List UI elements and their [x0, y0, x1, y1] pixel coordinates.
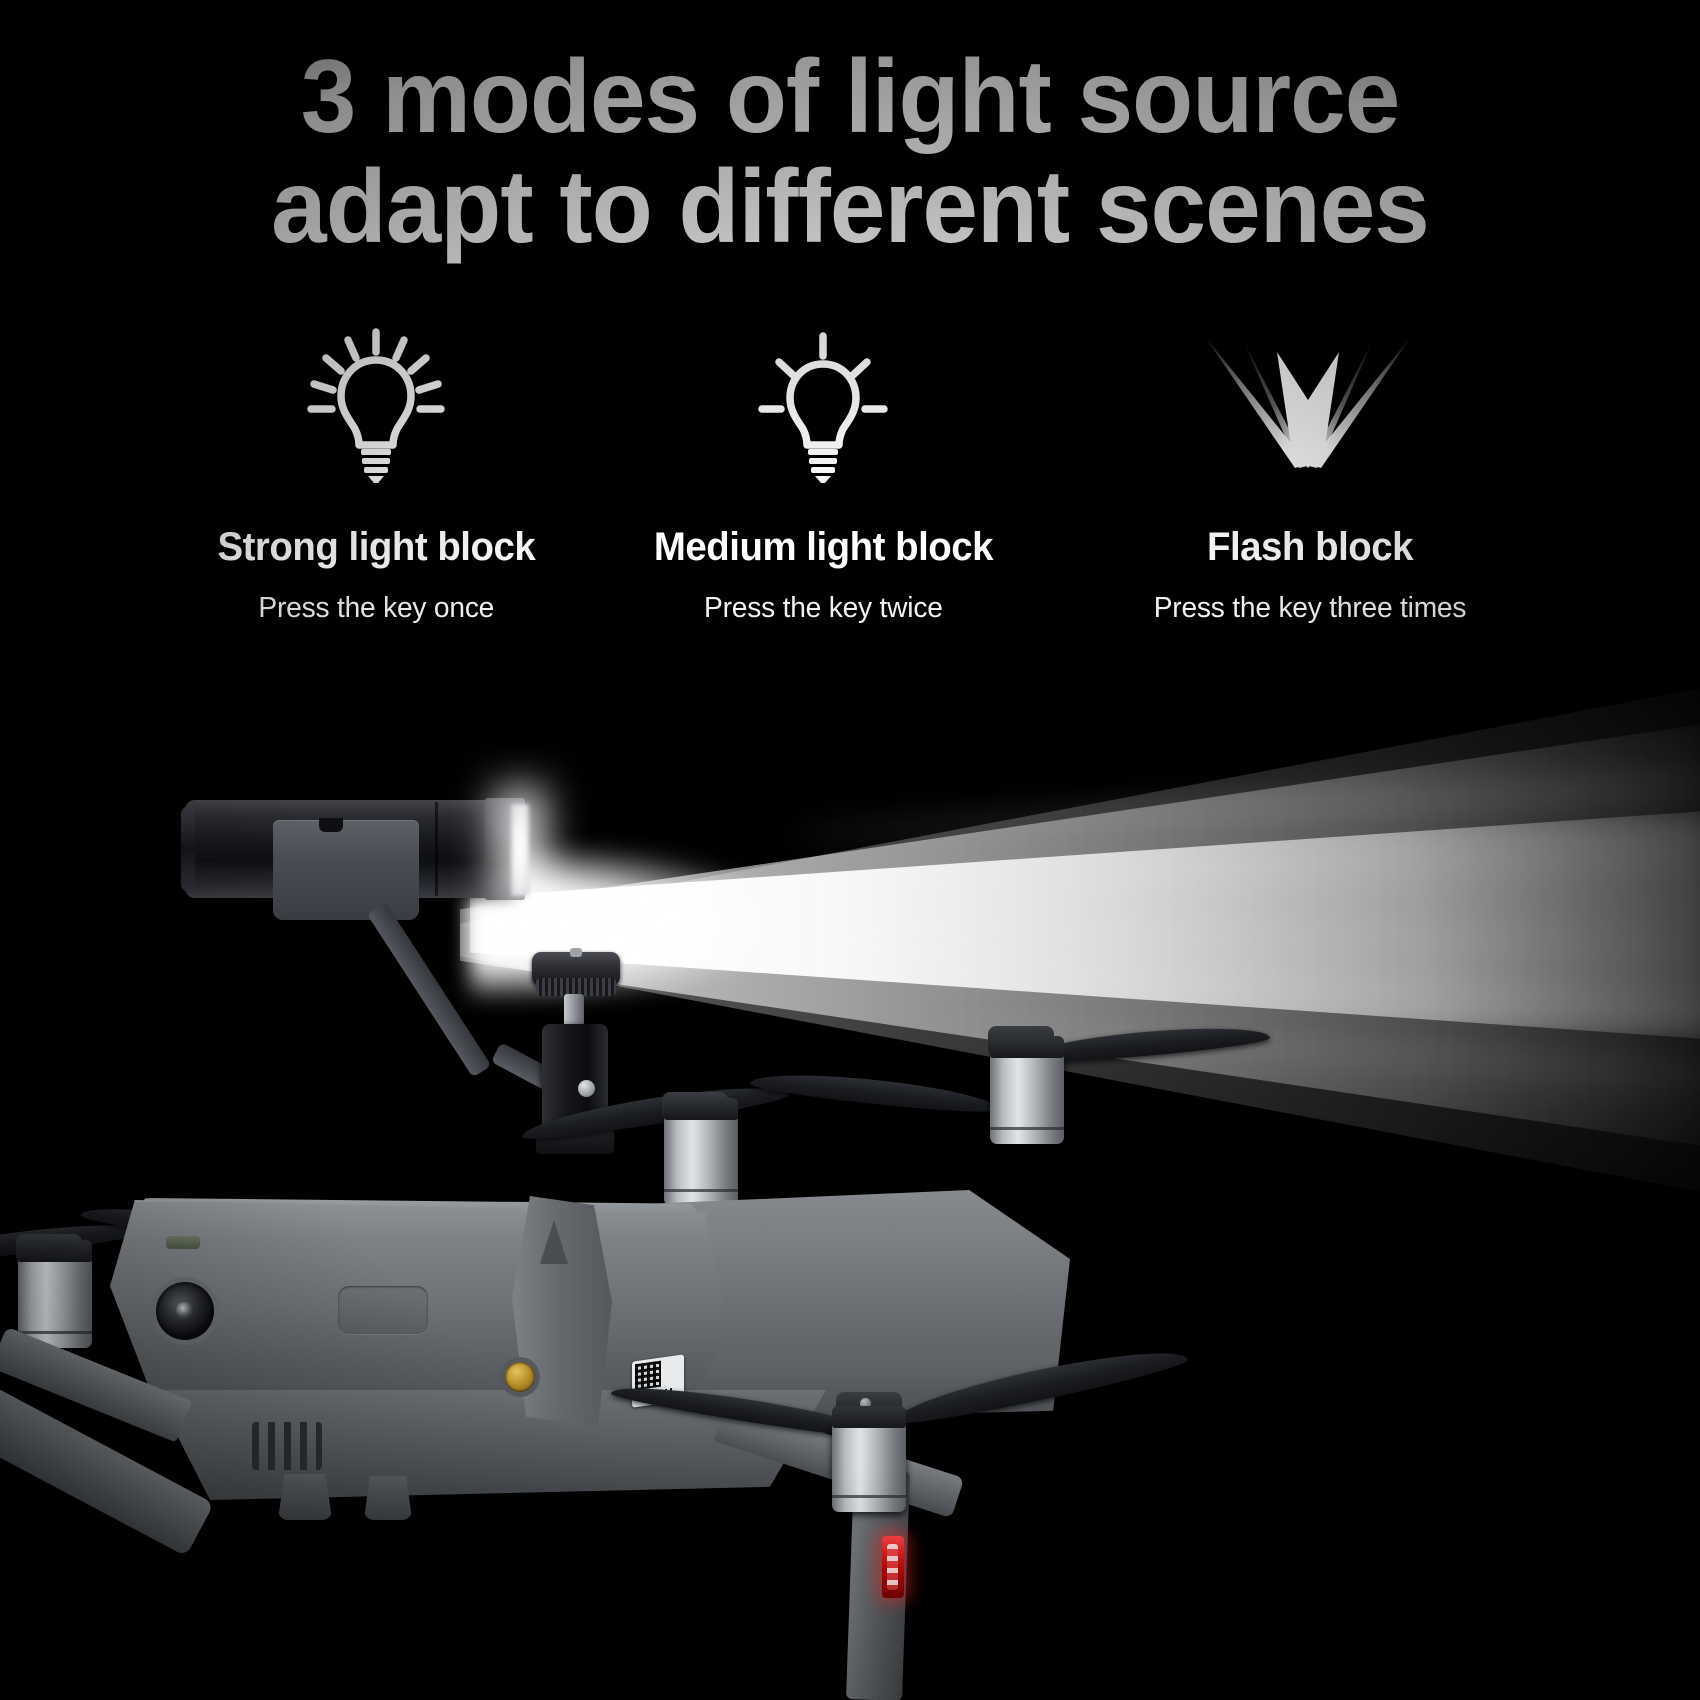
torch-mounting-clip: [273, 820, 419, 920]
light-mode-flash: Flash block Press the key three times: [1050, 318, 1570, 648]
headline-line-1: 3 modes of light source: [34, 42, 1666, 152]
landing-foot: [278, 1474, 332, 1520]
status-led-green: [166, 1236, 200, 1249]
mode-instruction: Press the key twice: [626, 592, 1043, 625]
motor-cap: [832, 1406, 906, 1428]
product-infographic: 3 modes of light source adapt to differe…: [0, 0, 1700, 1700]
page-title: 3 modes of light source adapt to differe…: [34, 42, 1666, 262]
motor-housing: [990, 1052, 1064, 1144]
quadcopter-drone: [0, 1070, 1260, 1700]
motor-cap: [664, 1098, 738, 1120]
propeller-blade: [749, 1067, 1000, 1117]
beam-streak: [790, 774, 1700, 844]
motor-cap: [18, 1240, 92, 1262]
mode-label: Medium light block: [629, 525, 1042, 570]
landing-foot: [364, 1476, 412, 1520]
light-mode-strong: Strong light block Press the key once: [150, 318, 620, 648]
mode-instruction: Press the key once: [157, 592, 613, 625]
mount-rail: [512, 1196, 612, 1426]
mode-label: Flash block: [1060, 525, 1559, 570]
flashlight-torch: [185, 800, 515, 905]
torch-lens: [511, 804, 529, 896]
mount-knob-screw: [570, 948, 582, 957]
lightbulb-bright-icon: [150, 318, 620, 493]
gimbal-screw: [505, 1362, 535, 1392]
motor-housing: [18, 1256, 92, 1348]
product-photo: [0, 640, 1700, 1700]
lightbulb-medium-icon: [620, 318, 1050, 493]
beam-streak: [890, 962, 1700, 1013]
beam-streak: [850, 846, 1700, 885]
motor-cap: [990, 1036, 1064, 1058]
flash-beam-icon: [1050, 318, 1570, 493]
battery-hatch: [338, 1286, 428, 1334]
motor-housing: [832, 1420, 906, 1512]
torch-seam: [435, 802, 438, 896]
light-mode-medium: Medium light block Press the key twice: [620, 318, 1050, 648]
torch-tail-cap: [181, 806, 195, 892]
headline-line-2: adapt to different scenes: [34, 152, 1666, 262]
beam-streak: [770, 932, 1700, 951]
status-led-red: [882, 1536, 904, 1598]
mode-label: Strong light block: [159, 525, 610, 570]
light-mode-list: Strong light block Press the key once: [150, 318, 1570, 648]
sensor-lens: [176, 1302, 193, 1319]
beam-core: [470, 810, 1700, 1040]
mount-arm-upper: [367, 902, 492, 1078]
motor-housing: [664, 1114, 738, 1206]
mode-instruction: Press the key three times: [1058, 592, 1562, 625]
clip-notch: [319, 818, 343, 832]
propeller-blade: [520, 1077, 791, 1145]
vent-grille: [252, 1422, 322, 1470]
